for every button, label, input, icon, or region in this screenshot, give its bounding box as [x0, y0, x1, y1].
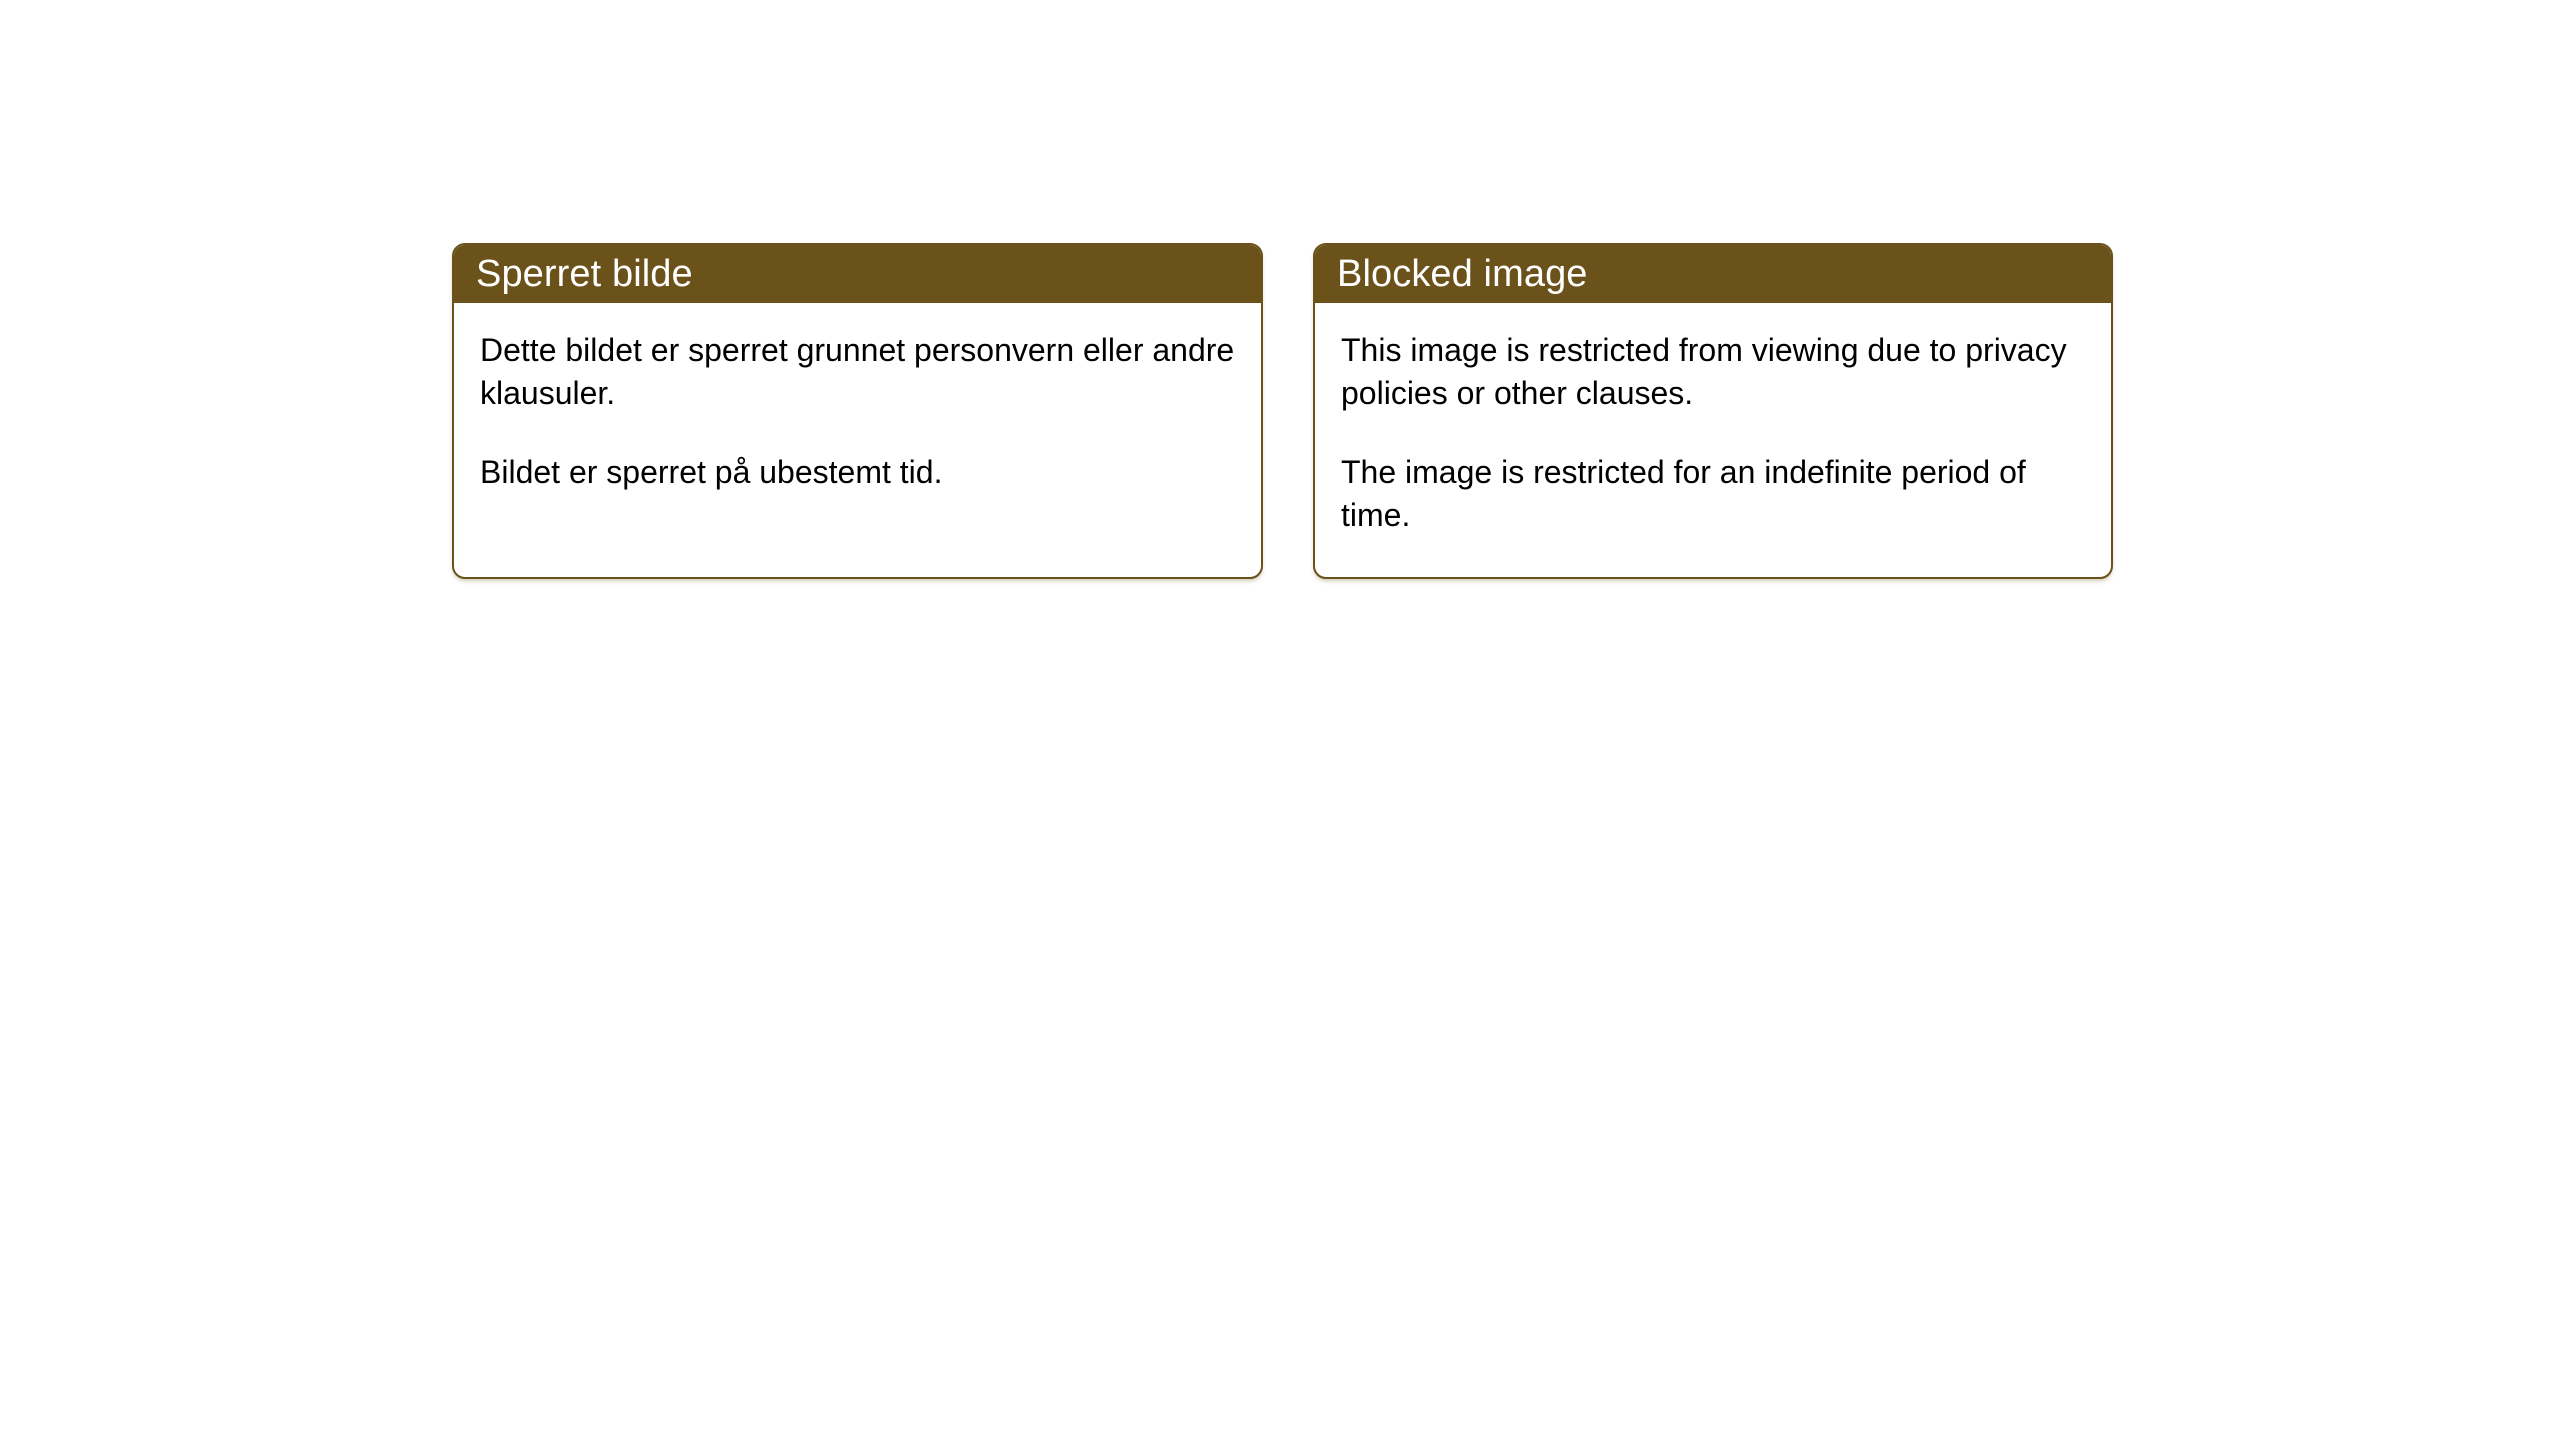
notice-paragraph-no-1: Dette bildet er sperret grunnet personve… — [480, 329, 1237, 415]
blocked-image-notice-card-no: Sperret bilde Dette bildet er sperret gr… — [452, 243, 1263, 579]
notice-body-en: This image is restricted from viewing du… — [1315, 303, 2111, 577]
notice-header-en: Blocked image — [1315, 245, 2111, 303]
notice-paragraph-en-1: This image is restricted from viewing du… — [1341, 329, 2087, 415]
notice-paragraph-no-2: Bildet er sperret på ubestemt tid. — [480, 451, 1237, 494]
notice-body-no: Dette bildet er sperret grunnet personve… — [454, 303, 1261, 577]
notice-card-row: Sperret bilde Dette bildet er sperret gr… — [452, 243, 2113, 579]
notice-paragraph-en-2: The image is restricted for an indefinit… — [1341, 451, 2087, 537]
page-root: Sperret bilde Dette bildet er sperret gr… — [0, 0, 2560, 1440]
notice-title-no: Sperret bilde — [476, 255, 693, 293]
notice-header-no: Sperret bilde — [454, 245, 1261, 303]
notice-title-en: Blocked image — [1337, 255, 1588, 293]
blocked-image-notice-card-en: Blocked image This image is restricted f… — [1313, 243, 2113, 579]
